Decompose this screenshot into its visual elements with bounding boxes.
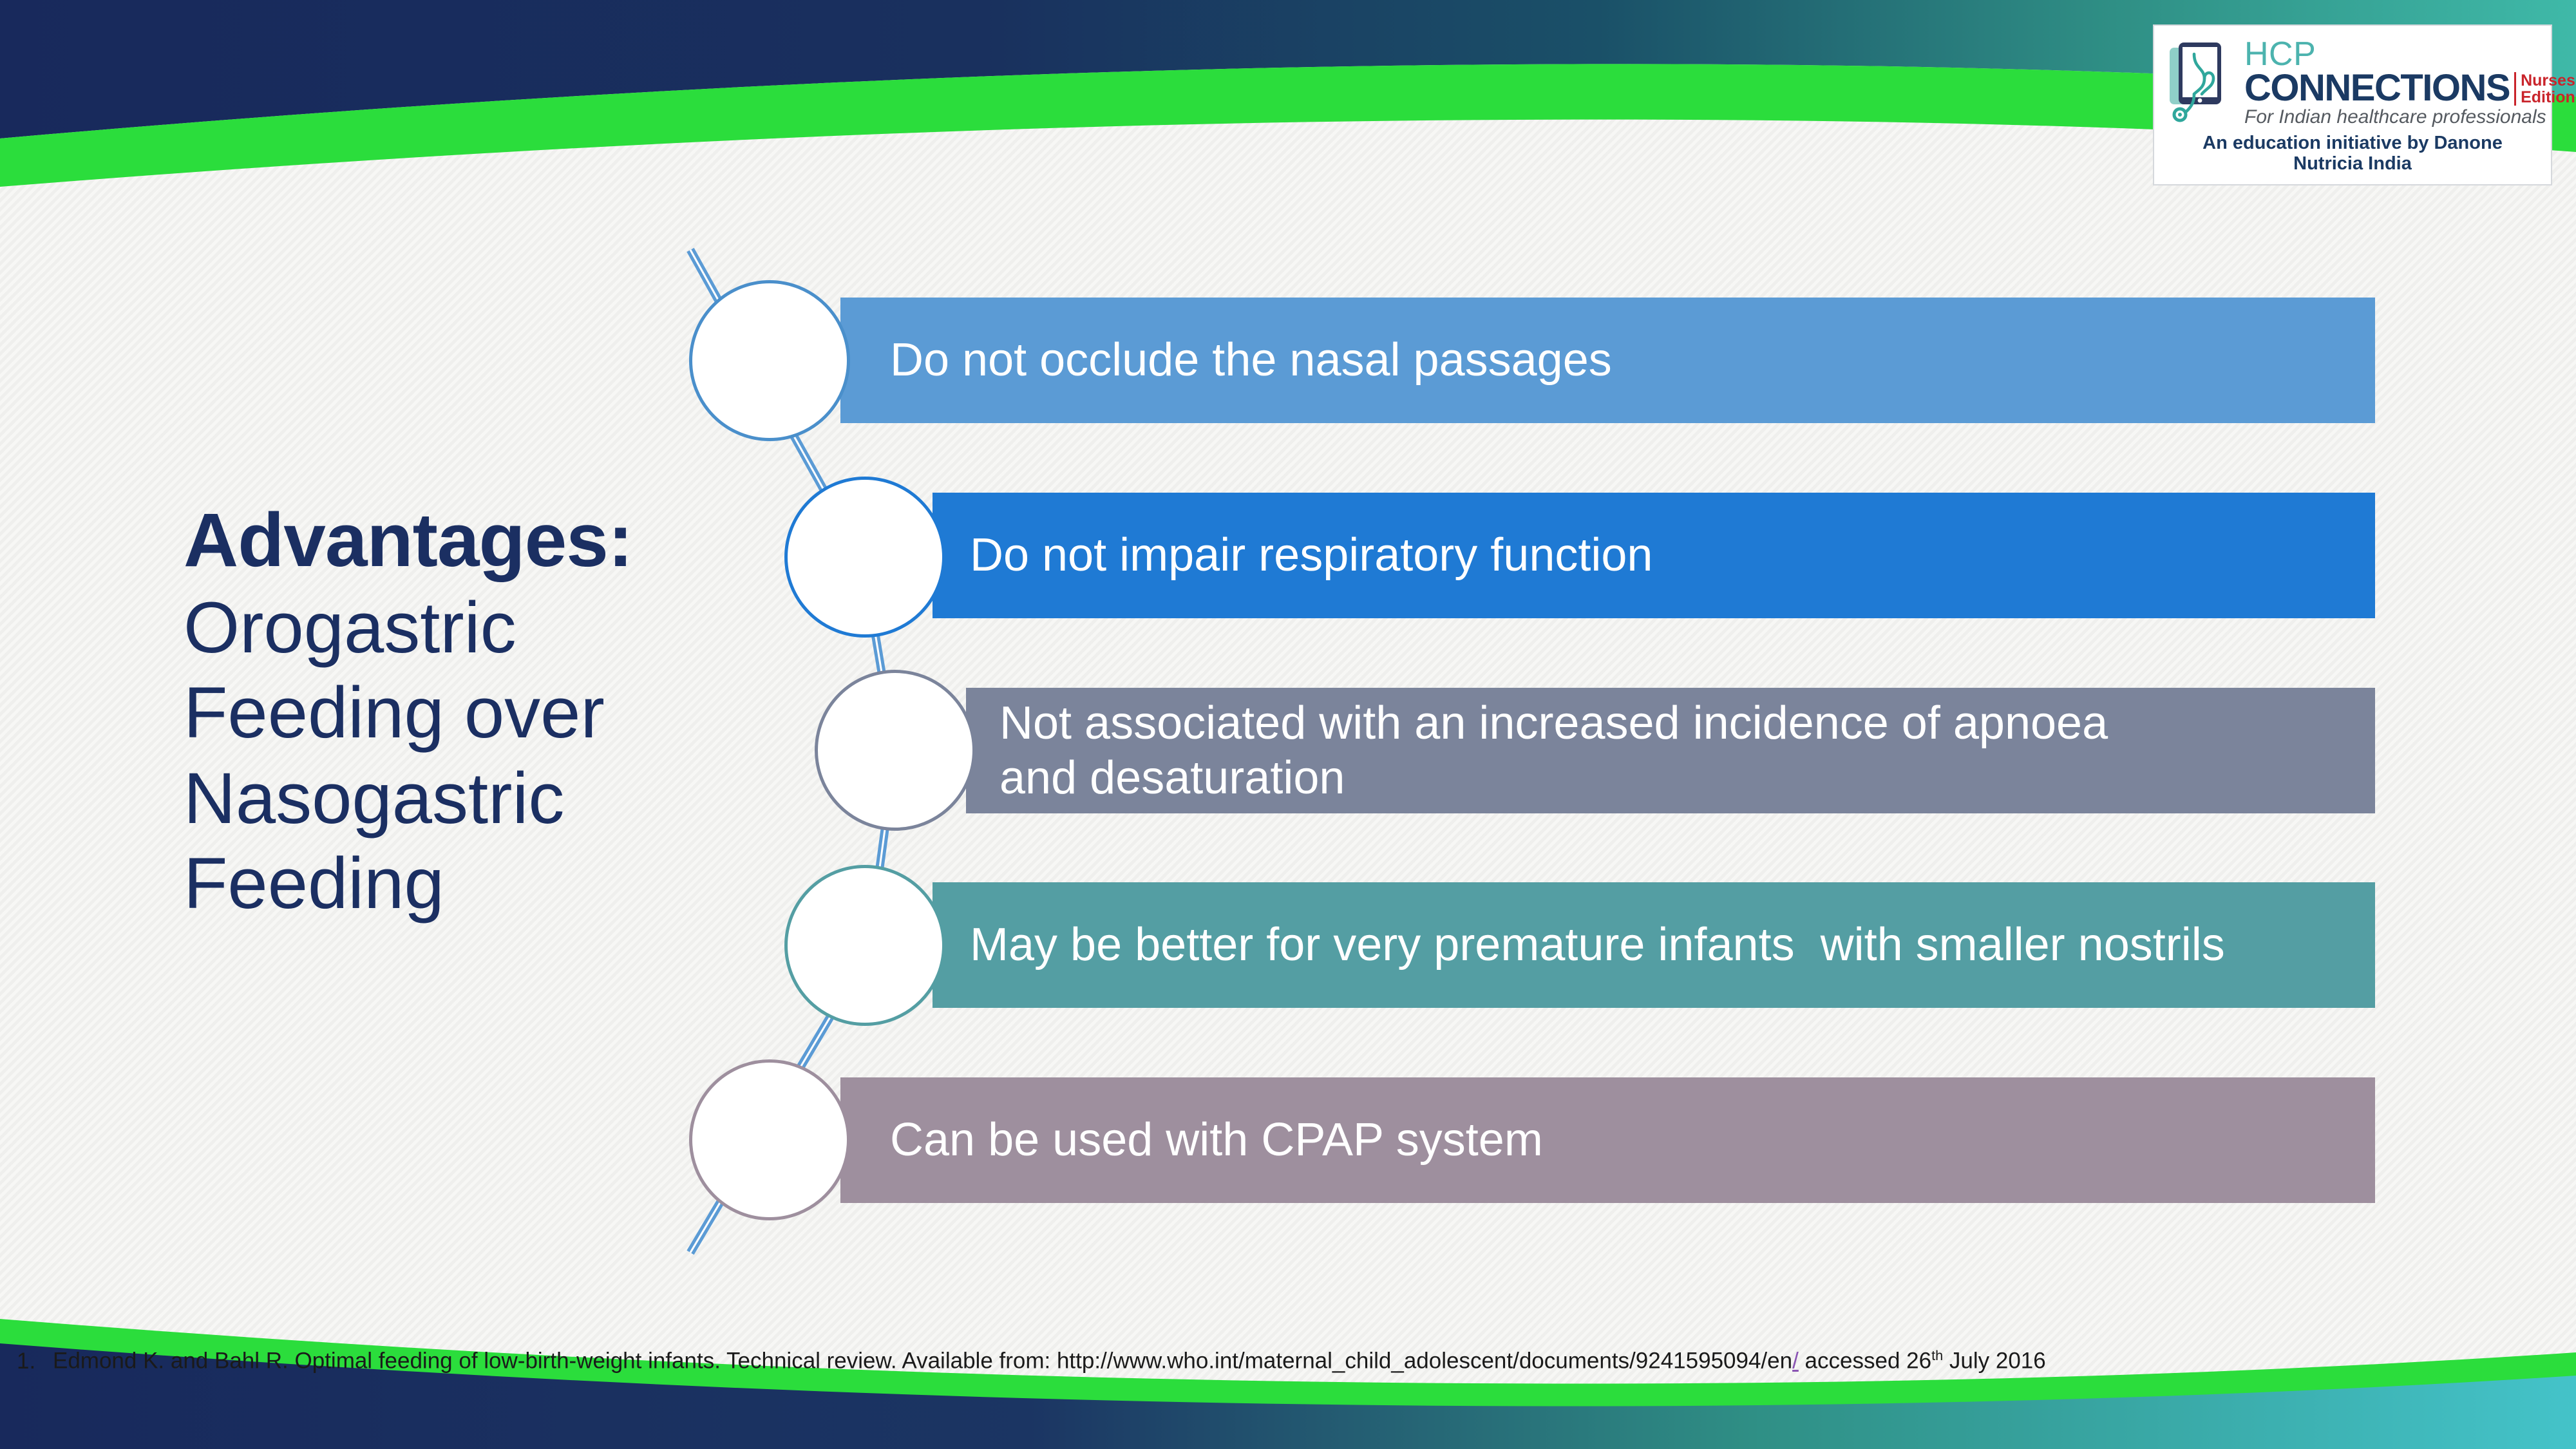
- logo-initiative-text: An education initiative by Danone Nutric…: [2166, 133, 2539, 175]
- logo-hcp-text: HCP: [2244, 39, 2576, 70]
- hcp-connections-logo: HCP CONNECTIONS Nurses’ Edition For Indi…: [2153, 24, 2552, 185]
- logo-main-row: HCP CONNECTIONS Nurses’ Edition For Indi…: [2166, 39, 2539, 129]
- process-bar-3[interactable]: Not associated with an increased inciden…: [966, 688, 2375, 813]
- process-bar-5[interactable]: Can be used with CPAP system: [840, 1077, 2375, 1203]
- process-circle-3[interactable]: [815, 670, 976, 831]
- logo-tagline: For Indian healthcare professionals: [2244, 106, 2576, 128]
- process-bar-4[interactable]: May be better for very premature infants…: [933, 882, 2375, 1008]
- footnote-link[interactable]: /: [1792, 1349, 1799, 1374]
- process-bar-1[interactable]: Do not occlude the nasal passages: [840, 298, 2375, 423]
- process-bar-2-text: Do not impair respiratory function: [970, 528, 1653, 582]
- process-circle-1[interactable]: [689, 280, 850, 441]
- footnote-reference: 1. Edmond K. and Bahl R. Optimal feeding…: [17, 1347, 2400, 1374]
- process-flow-diagram: Do not occlude the nasal passages Do not…: [0, 0, 2576, 1449]
- logo-nurses-edition: Nurses’ Edition: [2521, 70, 2576, 106]
- process-bar-2[interactable]: Do not impair respiratory function: [933, 493, 2375, 618]
- process-bar-1-text: Do not occlude the nasal passages: [890, 333, 1612, 387]
- logo-nurses-line-2: Edition: [2521, 89, 2576, 106]
- logo-wordmark: HCP CONNECTIONS Nurses’ Edition For Indi…: [2244, 39, 2576, 128]
- footnote-number: 1.: [17, 1349, 36, 1374]
- logo-connections-row: CONNECTIONS Nurses’ Edition: [2244, 70, 2576, 106]
- logo-divider: [2514, 72, 2516, 106]
- footnote-ordinal-suffix: th: [1931, 1347, 1943, 1363]
- footnote-text: Edmond K. and Bahl R. Optimal feeding of…: [53, 1347, 2046, 1374]
- process-circle-5[interactable]: [689, 1059, 850, 1220]
- process-bar-5-text: Can be used with CPAP system: [890, 1113, 1543, 1167]
- footnote-date: July 2016: [1943, 1349, 2046, 1374]
- footnote-citation: Edmond K. and Bahl R. Optimal feeding of…: [53, 1349, 1792, 1374]
- process-bar-4-text: May be better for very premature infants…: [970, 918, 2225, 972]
- logo-nurses-line-1: Nurses’: [2521, 72, 2576, 89]
- slide-canvas: Advantages: Orogastric Feeding over Naso…: [0, 0, 2576, 1449]
- tablet-stethoscope-icon: [2166, 39, 2238, 129]
- process-bar-3-text: Not associated with an increased inciden…: [999, 696, 2108, 804]
- process-circle-4[interactable]: [784, 865, 945, 1026]
- footnote-accessed: accessed 26: [1799, 1349, 1931, 1374]
- logo-connections-text: CONNECTIONS: [2244, 70, 2510, 106]
- process-circle-2[interactable]: [784, 477, 945, 638]
